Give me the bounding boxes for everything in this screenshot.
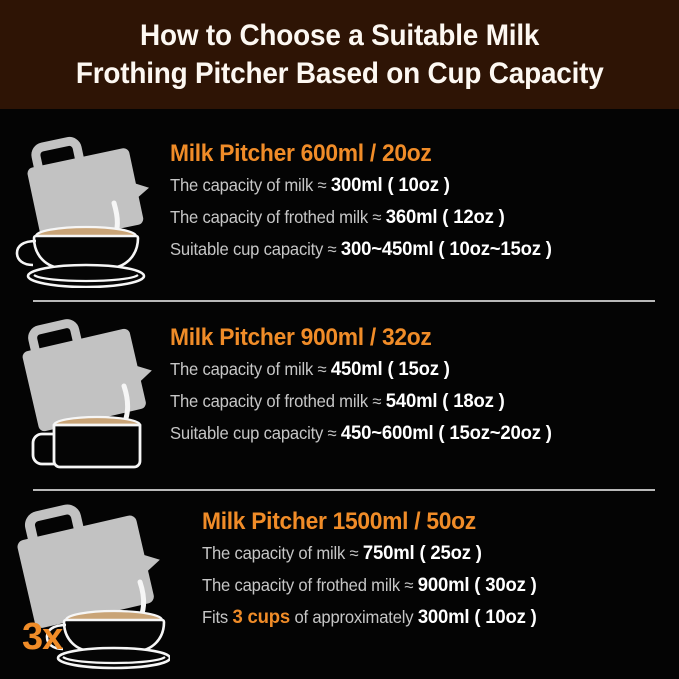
spec-value: 300~450ml ( 10oz~15oz ) xyxy=(341,238,552,260)
spec-value: 450~600ml ( 15oz~20oz ) xyxy=(341,422,552,444)
spec-label: The capacity of frothed milk ≈ xyxy=(170,207,386,227)
pitcher-pouring-into-cup-and-saucer-icon xyxy=(0,128,170,288)
spec-value: 750ml ( 25oz ) xyxy=(363,542,482,564)
spec-label: Fits xyxy=(202,607,232,627)
multiplier-label: 3x xyxy=(22,618,62,656)
spec-line-frothed-milk: The capacity of frothed milk ≈ 540ml ( 1… xyxy=(170,391,654,412)
spec-value: 300ml ( 10oz ) xyxy=(418,606,537,628)
spec-line-fits-cups: Fits 3 cups of approximately 300ml ( 10o… xyxy=(202,607,655,628)
spec-label: The capacity of milk ≈ xyxy=(202,543,363,563)
icon-column: 3x xyxy=(0,500,170,672)
text-column: Milk Pitcher 1500ml / 50oz The capacity … xyxy=(170,500,679,639)
spec-line-frothed-milk: The capacity of frothed milk ≈ 900ml ( 3… xyxy=(202,575,655,596)
infographic-root: How to Choose a Suitable Milk Frothing P… xyxy=(0,0,679,679)
spec-value: 360ml ( 12oz ) xyxy=(386,206,505,228)
section-divider xyxy=(33,300,655,302)
spec-label: The capacity of milk ≈ xyxy=(170,175,331,195)
text-column: Milk Pitcher 600ml / 20oz The capacity o… xyxy=(170,128,679,271)
spec-value: 900ml ( 30oz ) xyxy=(418,574,537,596)
pitcher-section-600ml: Milk Pitcher 600ml / 20oz The capacity o… xyxy=(0,128,679,288)
spec-line-frothed-milk: The capacity of frothed milk ≈ 360ml ( 1… xyxy=(170,207,654,228)
pitcher-title: Milk Pitcher 1500ml / 50oz xyxy=(202,508,655,536)
spec-line-suitable-cup: Suitable cup capacity ≈ 300~450ml ( 10oz… xyxy=(170,239,654,260)
pitcher-pouring-into-mug-icon xyxy=(0,312,170,477)
text-column: Milk Pitcher 900ml / 32oz The capacity o… xyxy=(170,312,679,455)
spec-line-capacity-of-milk: The capacity of milk ≈ 450ml ( 15oz ) xyxy=(170,359,654,380)
pitcher-section-900ml: Milk Pitcher 900ml / 32oz The capacity o… xyxy=(0,312,679,477)
spec-label: Suitable cup capacity ≈ xyxy=(170,239,341,259)
pitcher-title: Milk Pitcher 900ml / 32oz xyxy=(170,324,654,352)
icon-column xyxy=(0,128,170,288)
pitcher-title: Milk Pitcher 600ml / 20oz xyxy=(170,140,654,168)
spec-label: The capacity of milk ≈ xyxy=(170,359,331,379)
spec-line-suitable-cup: Suitable cup capacity ≈ 450~600ml ( 15oz… xyxy=(170,423,654,444)
spec-label: The capacity of frothed milk ≈ xyxy=(202,575,418,595)
header-title-line-2: Frothing Pitcher Based on Cup Capacity xyxy=(76,55,604,93)
spec-label-cont: of approximately xyxy=(290,607,418,627)
section-divider xyxy=(33,489,655,491)
spec-value: 450ml ( 15oz ) xyxy=(331,358,450,380)
spec-highlight: 3 cups xyxy=(232,606,290,628)
header-banner: How to Choose a Suitable Milk Frothing P… xyxy=(0,0,679,109)
pitcher-section-1500ml: 3x Milk Pitcher 1500ml / 50oz The capaci… xyxy=(0,500,679,672)
spec-value: 300ml ( 10oz ) xyxy=(331,174,450,196)
spec-line-capacity-of-milk: The capacity of milk ≈ 750ml ( 25oz ) xyxy=(202,543,655,564)
spec-label: Suitable cup capacity ≈ xyxy=(170,423,341,443)
spec-value: 540ml ( 18oz ) xyxy=(386,390,505,412)
icon-column xyxy=(0,312,170,477)
spec-label: The capacity of frothed milk ≈ xyxy=(170,391,386,411)
spec-line-capacity-of-milk: The capacity of milk ≈ 300ml ( 10oz ) xyxy=(170,175,654,196)
header-title-line-1: How to Choose a Suitable Milk xyxy=(140,17,539,55)
